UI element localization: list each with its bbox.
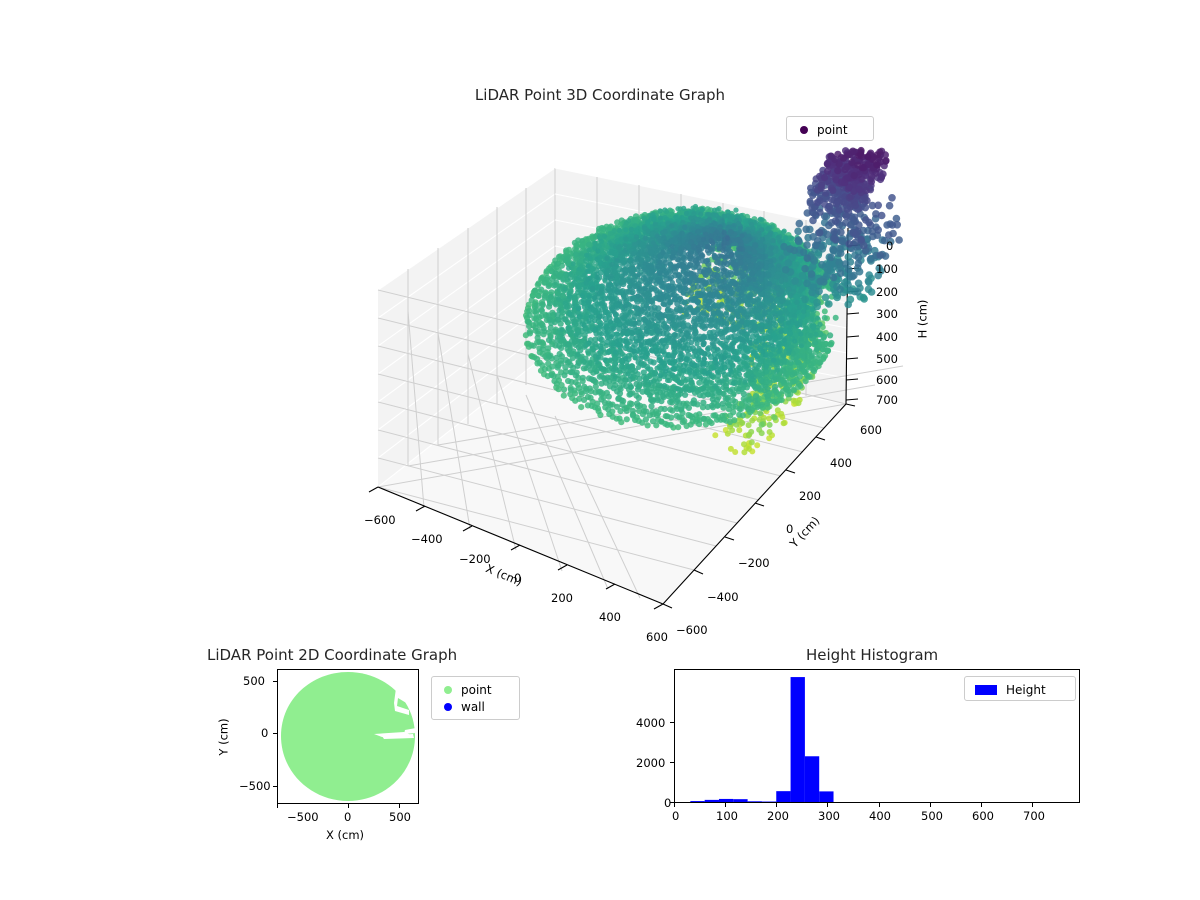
tick-hist-x3 [827, 803, 828, 807]
legend-label-wall: wall [461, 700, 485, 714]
tick-hist-y2 [670, 722, 674, 723]
histogram-bars [690, 677, 833, 802]
legend-label-height: Height [1006, 683, 1046, 697]
tick-hist-y1 [670, 762, 674, 763]
panel-3d-zlabel: H (cm) [915, 300, 929, 339]
panel-2d-xlabel: X (cm) [326, 828, 364, 842]
height-bar-swatch-icon [975, 685, 997, 695]
tick-hist-x1 [725, 803, 726, 807]
tick-hist-x6 [981, 803, 982, 807]
tick-hist-x2 [776, 803, 777, 807]
panel-2d-legend: point wall [431, 676, 520, 720]
panel-hist-legend: Height [964, 676, 1076, 701]
panel-2d-ylabel: Y (cm) [217, 718, 231, 755]
wall-marker-icon [444, 703, 452, 711]
tick-2d-y0 [273, 786, 277, 787]
legend-label-point: point [461, 683, 492, 697]
tick-2d-x2 [399, 804, 400, 808]
tick-hist-x0 [674, 803, 675, 807]
panel-2d-title: LiDAR Point 2D Coordinate Graph [207, 646, 457, 664]
tick-2d-x1 [348, 804, 349, 808]
tick-hist-x5 [930, 803, 931, 807]
tick-hist-x4 [879, 803, 880, 807]
tick-2d-y1 [273, 733, 277, 734]
tick-2d-x0 [277, 804, 278, 808]
legend-entry-wall-2d: wall [439, 698, 512, 715]
panel-2d-canvas [278, 670, 418, 803]
tick-hist-x7 [1032, 803, 1033, 807]
tick-2d-y2 [273, 681, 277, 682]
matplotlib-figure: LiDAR Point 3D Coordinate Graph point [0, 0, 1200, 900]
legend-entry-point-2d: point [439, 681, 512, 698]
panel-3d-scatter: LiDAR Point 3D Coordinate Graph point [0, 0, 1200, 640]
legend-entry-height: Height [972, 681, 1068, 698]
panel-2d-plot-area [277, 669, 419, 804]
point-marker-icon [444, 686, 452, 694]
panel-hist-title: Height Histogram [806, 646, 938, 664]
panel-3d-canvas [0, 0, 1200, 640]
